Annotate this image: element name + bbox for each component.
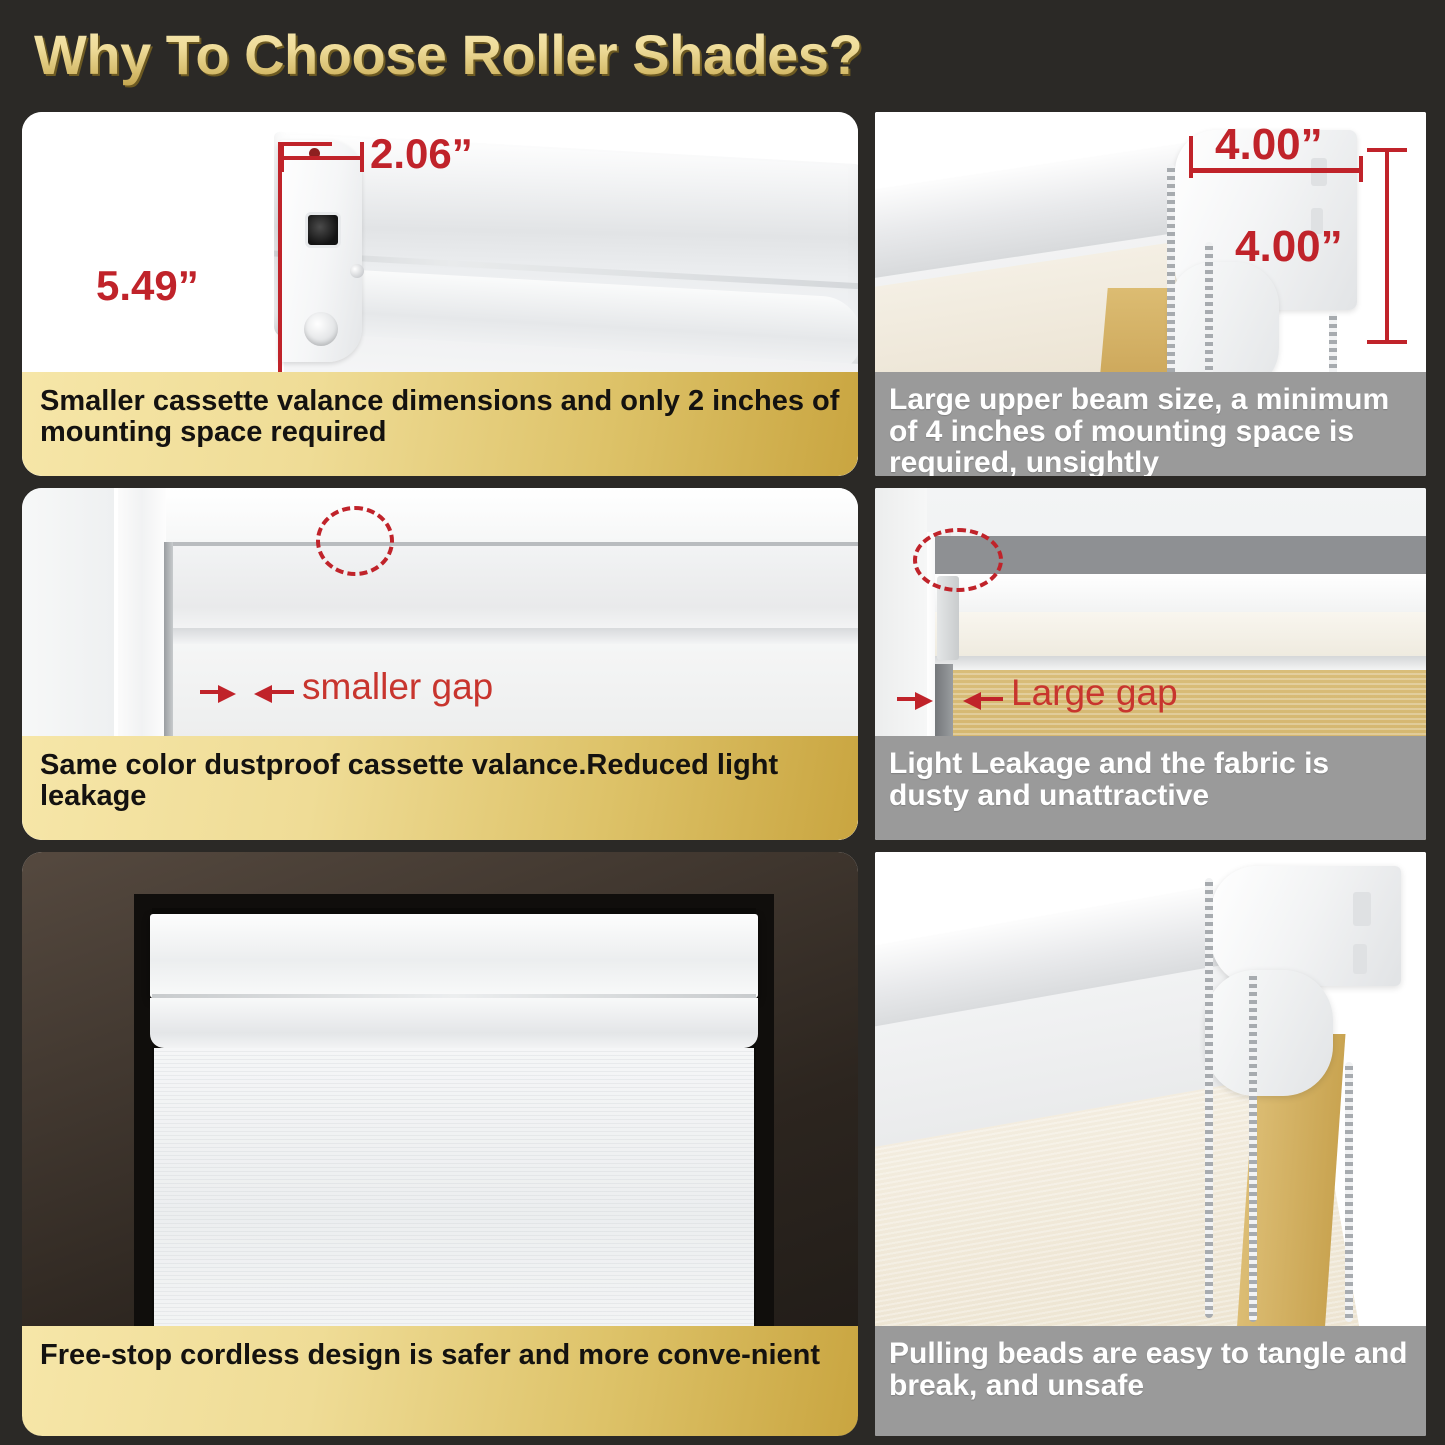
bead-chain-mid [1249, 972, 1257, 1322]
panel-smaller-cassette: 2.06” 5.49” Smaller cassette valance dim… [22, 112, 858, 476]
valance-lip [935, 656, 1426, 670]
highlight-circle-icon [913, 528, 1003, 592]
height-tick-top [280, 142, 332, 146]
gap-arrow-left-stem [981, 697, 1003, 701]
caption-cordless-design: Free-stop cordless design is safer and m… [22, 1326, 858, 1436]
shadow-band [935, 536, 1426, 576]
valance-top-face [935, 574, 1426, 616]
shade-fabric-body [154, 1048, 754, 1348]
caption-pulling-beads: Pulling beads are easy to tangle and bre… [875, 1326, 1426, 1436]
bracket-notch-upper-icon [1353, 892, 1371, 926]
bracket-notch-lower-icon [1353, 944, 1367, 974]
dimension-label-2-06: 2.06” [370, 130, 473, 178]
shade-upper-section [172, 546, 858, 634]
bead-chain-left [1205, 878, 1213, 1318]
gap-arrow-left-icon [963, 692, 981, 710]
panel-pulling-beads: Pulling beads are easy to tangle and bre… [875, 852, 1426, 1436]
endcap-screw-icon [350, 264, 364, 278]
dimension-label-5-49: 5.49” [96, 262, 199, 310]
panel-large-gap: Large gap Light Leakage and the fabric i… [875, 488, 1426, 840]
panel-cordless-design: Free-stop cordless design is safer and m… [22, 852, 858, 1436]
gap-arrow-left-stem [272, 690, 294, 694]
bead-chain-left [1167, 164, 1175, 394]
bead-chain-right [1345, 1062, 1353, 1322]
gap-arrow-right-icon [915, 692, 933, 710]
annotation-large-gap: Large gap [1011, 672, 1178, 714]
caption-smaller-cassette: Smaller cassette valance dimensions and … [22, 372, 858, 476]
gap-arrow-right-icon [218, 685, 236, 703]
endcap-knob-icon [304, 312, 338, 346]
valance-rounded-face [150, 998, 758, 1048]
mounting-bracket-upper [1211, 866, 1401, 986]
beam-width-tick-right [1359, 156, 1363, 182]
mounting-bracket-lower [1205, 970, 1333, 1096]
panel-smaller-gap: smaller gap Same color dustproof cassett… [22, 488, 858, 840]
window-header-trim [166, 488, 858, 542]
infographic-root: Why To Choose Roller Shades? Why To Choo… [0, 0, 1445, 1445]
gap-arrow-left-icon [254, 685, 272, 703]
caption-smaller-gap: Same color dustproof cassette valance.Re… [22, 736, 858, 840]
gap-arrow-right-stem [897, 697, 919, 701]
dimension-label-height-4: 4.00” [1235, 222, 1343, 272]
width-dim-line [280, 156, 364, 160]
panel-large-beam: 4.00” 4.00” Large upper beam size, a min… [875, 112, 1426, 476]
panel-grid: 2.06” 5.49” Smaller cassette valance dim… [0, 104, 1445, 1445]
highlight-circle-icon [316, 506, 394, 576]
shade-mid-bar [172, 628, 858, 644]
caption-large-beam: Large upper beam size, a minimum of 4 in… [875, 372, 1426, 476]
valance-front-face [935, 612, 1426, 660]
endcap-slot-icon [305, 212, 341, 248]
page-title: Why To Choose Roller Shades? [34, 22, 862, 87]
annotation-smaller-gap: smaller gap [302, 666, 493, 708]
beam-height-tick-bottom [1367, 340, 1407, 344]
gap-arrow-right-stem [200, 690, 222, 694]
beam-height-dim-line [1385, 148, 1389, 344]
caption-light-leakage: Light Leakage and the fabric is dusty an… [875, 736, 1426, 840]
dimension-label-width-4: 4.00” [1215, 120, 1323, 170]
cassette-valance [150, 914, 758, 998]
